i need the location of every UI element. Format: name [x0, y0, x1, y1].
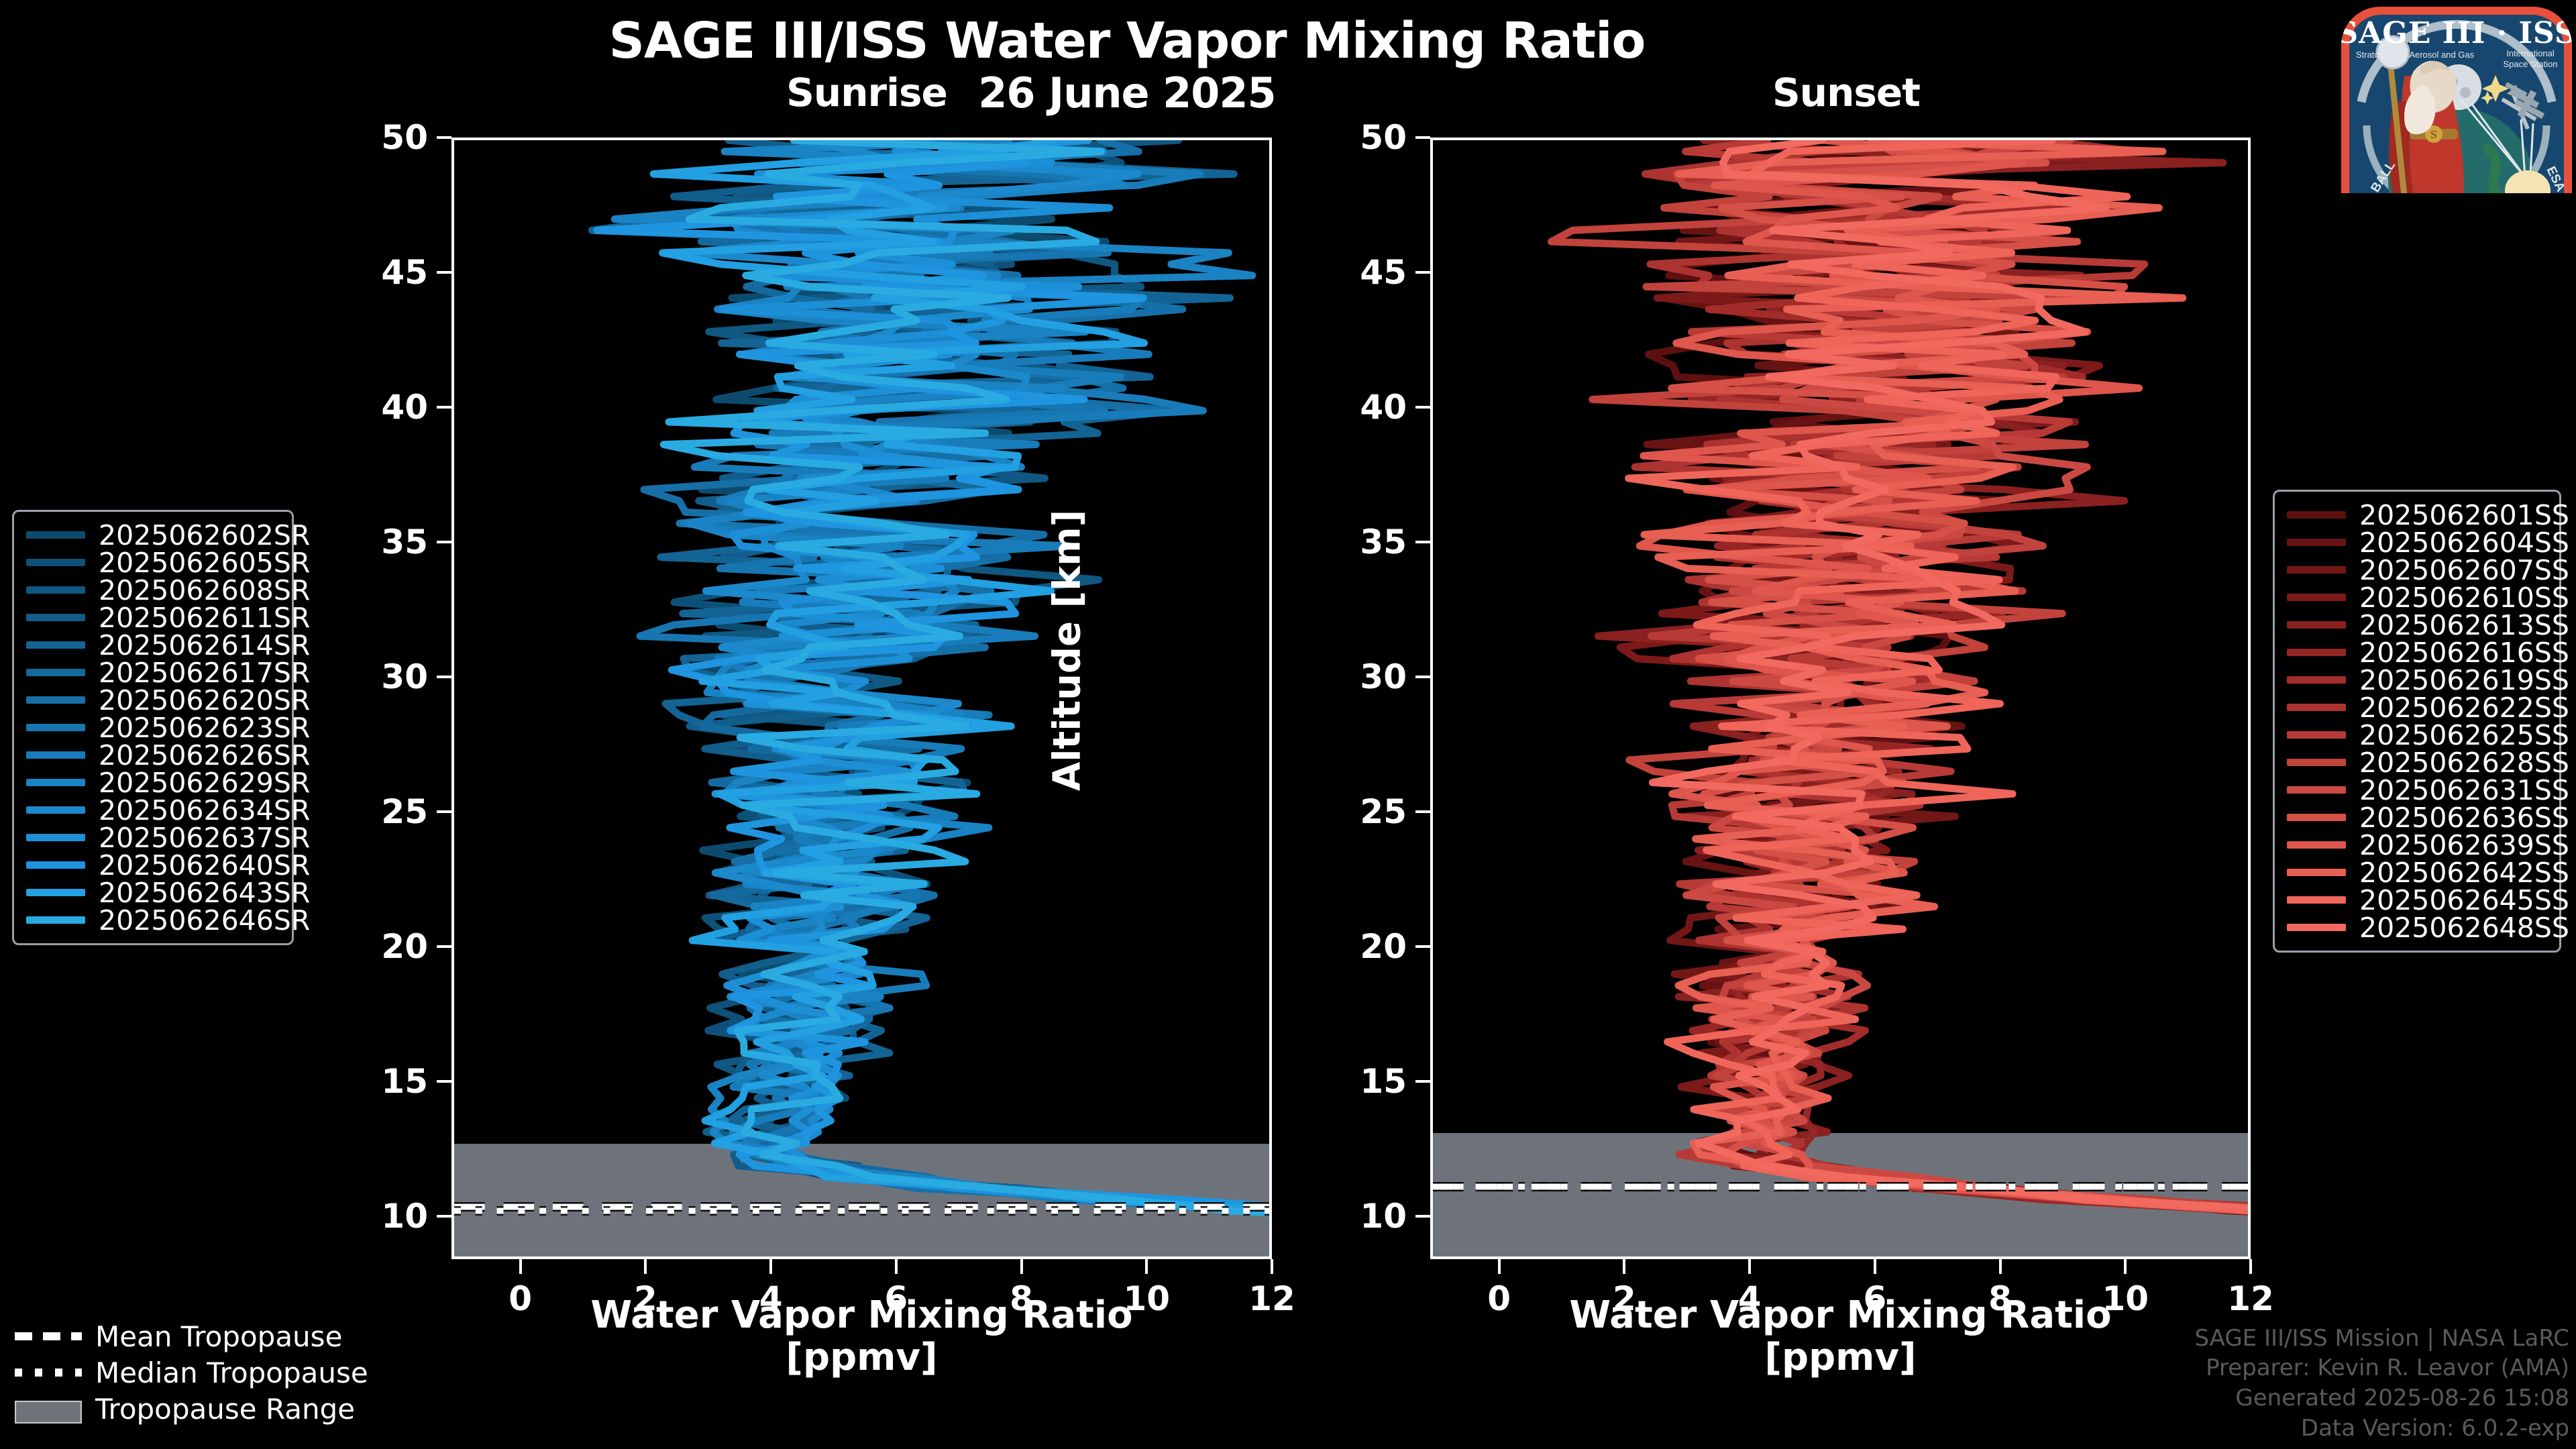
svg-text:International: International	[2506, 48, 2555, 58]
legend-color-swatch	[2287, 676, 2346, 684]
legend-sunset[interactable]: 2025062601SS2025062604SS2025062607SS2025…	[2273, 490, 2561, 953]
credits-line: Preparer: Kevin R. Leavor (AMA)	[2194, 1353, 2569, 1383]
y-tick-mark	[1415, 136, 1430, 139]
plot-panel-sunset	[1430, 138, 2251, 1259]
y-tick-mark	[437, 945, 451, 948]
tropopause-legend-label: Tropopause Range	[95, 1393, 355, 1426]
plot-panel-sunrise	[451, 138, 1272, 1259]
y-tick-label: 15	[317, 1062, 428, 1101]
legend-item[interactable]: 2025062617SR	[26, 659, 280, 686]
legend-color-swatch	[2287, 649, 2346, 656]
legend-item[interactable]: 2025062631SS	[2287, 776, 2547, 804]
y-tick-label: 40	[317, 388, 428, 427]
x-tick-mark	[1874, 1259, 1876, 1274]
legend-item[interactable]: 2025062608SR	[26, 576, 280, 604]
legend-item[interactable]: 2025062625SS	[2287, 721, 2547, 749]
tropopause-range-key-icon	[15, 1401, 82, 1417]
plot-area-sunrise	[454, 140, 1269, 1256]
legend-color-swatch	[2287, 814, 2346, 821]
y-tick-label: 25	[317, 792, 428, 831]
legend-item[interactable]: 2025062642SS	[2287, 859, 2547, 886]
svg-text:SAGE III · ISS: SAGE III · ISS	[2337, 16, 2576, 50]
sunset-panel-title: Sunset	[1430, 70, 2262, 115]
figure-canvas: SAGE III/ISS Water Vapor Mixing Ratio 26…	[0, 0, 2576, 1449]
x-tick-mark	[1271, 1259, 1273, 1274]
x-axis-title-sunrise: Water Vapor Mixing Ratio [ppmv]	[451, 1295, 1272, 1379]
tropopause-legend-label: Mean Tropopause	[95, 1320, 342, 1353]
legend-item[interactable]: 2025062634SR	[26, 796, 280, 824]
legend-item[interactable]: 2025062643SR	[26, 879, 280, 906]
tropopause-legend-item: Mean Tropopause	[15, 1318, 390, 1354]
legend-item[interactable]: 2025062648SS	[2287, 914, 2547, 941]
y-tick-label: 40	[1296, 388, 1407, 427]
legend-item-label: 2025062648SS	[2359, 912, 2569, 944]
svg-text:Space Station: Space Station	[2504, 59, 2558, 69]
legend-color-swatch	[26, 861, 85, 869]
legend-color-swatch	[2287, 594, 2346, 601]
y-tick-label: 30	[317, 657, 428, 696]
legend-sunrise[interactable]: 2025062602SR2025062605SR2025062608SR2025…	[12, 510, 294, 945]
legend-item[interactable]: 2025062619SS	[2287, 666, 2547, 694]
legend-color-swatch	[26, 806, 85, 814]
sunrise-panel-title: Sunrise	[451, 70, 1283, 115]
x-tick-mark	[2249, 1259, 2252, 1274]
x-tick-mark	[2124, 1259, 2127, 1274]
svg-text:S: S	[2430, 129, 2437, 141]
plot-area-sunset	[1433, 140, 2248, 1256]
legend-item[interactable]: 2025062626SR	[26, 741, 280, 769]
legend-item[interactable]: 2025062628SS	[2287, 749, 2547, 776]
legend-item[interactable]: 2025062640SR	[26, 851, 280, 879]
y-tick-mark	[1415, 945, 1430, 948]
legend-item-label: 2025062646SR	[99, 904, 310, 936]
legend-color-swatch	[26, 751, 85, 759]
y-tick-mark	[437, 271, 451, 274]
credits-line: Data Version: 6.0.2-exp	[2194, 1413, 2569, 1444]
tropopause-legend: Mean TropopauseMedian TropopauseTropopau…	[15, 1318, 390, 1427]
legend-key-glyph	[15, 1368, 82, 1377]
y-axis-title-sunset: Altitude [km]	[1047, 415, 1089, 885]
legend-item[interactable]: 2025062637SR	[26, 824, 280, 851]
y-tick-mark	[437, 810, 451, 813]
y-tick-label: 20	[317, 927, 428, 966]
legend-item[interactable]: 2025062614SR	[26, 631, 280, 659]
tropopause-legend-label: Median Tropopause	[95, 1356, 368, 1389]
legend-color-swatch	[2287, 924, 2346, 931]
median-tropopause-key-icon	[15, 1364, 82, 1381]
x-tick-mark	[895, 1259, 898, 1274]
tropopause-legend-item: Tropopause Range	[15, 1391, 390, 1427]
legend-color-swatch	[2287, 621, 2346, 629]
x-tick-mark	[1999, 1259, 2002, 1274]
y-tick-label: 20	[1296, 927, 1407, 966]
x-tick-mark	[769, 1259, 772, 1274]
x-tick-mark	[1623, 1259, 1625, 1274]
y-tick-label: 15	[1296, 1062, 1407, 1101]
credits-line: SAGE III/ISS Mission | NASA LaRC	[2194, 1324, 2569, 1354]
legend-color-swatch	[26, 834, 85, 841]
legend-item[interactable]: 2025062605SR	[26, 549, 280, 576]
x-tick-mark	[1748, 1259, 1751, 1274]
credits-block: SAGE III/ISS Mission | NASA LaRCPreparer…	[2194, 1324, 2569, 1444]
x-axis-title-line2: [ppmv]	[451, 1337, 1272, 1379]
legend-item[interactable]: 2025062646SR	[26, 906, 280, 934]
y-tick-mark	[437, 676, 451, 678]
y-tick-mark	[437, 1080, 451, 1083]
x-tick-mark	[644, 1259, 647, 1274]
y-tick-label: 45	[317, 253, 428, 292]
legend-color-swatch	[26, 669, 85, 676]
legend-color-swatch	[2287, 786, 2346, 794]
legend-item[interactable]: 2025062623SR	[26, 714, 280, 741]
x-tick-mark	[1145, 1259, 1148, 1274]
x-axis-title-line1: Water Vapor Mixing Ratio	[451, 1295, 1272, 1337]
legend-item[interactable]: 2025062622SS	[2287, 694, 2547, 721]
x-tick-mark	[1020, 1259, 1023, 1274]
y-tick-mark	[437, 541, 451, 543]
y-tick-mark	[437, 1215, 451, 1218]
y-tick-label: 50	[1296, 118, 1407, 157]
legend-color-swatch	[26, 614, 85, 621]
x-tick-mark	[1498, 1259, 1501, 1274]
legend-item[interactable]: 2025062611SR	[26, 604, 280, 631]
legend-item[interactable]: 2025062601SS	[2287, 501, 2547, 529]
legend-color-swatch	[2287, 511, 2346, 519]
y-tick-label: 25	[1296, 792, 1407, 831]
y-tick-label: 35	[1296, 523, 1407, 561]
y-tick-label: 45	[1296, 253, 1407, 292]
x-axis-title-line2: [ppmv]	[1430, 1337, 2251, 1379]
x-axis-title-line1: Water Vapor Mixing Ratio	[1430, 1295, 2251, 1337]
legend-item[interactable]: 2025062607SS	[2287, 556, 2547, 584]
legend-key-glyph	[15, 1401, 82, 1424]
y-tick-mark	[437, 136, 451, 139]
tropopause-legend-item: Median Tropopause	[15, 1354, 390, 1391]
sage-iii-iss-logo-icon: S SAGE III · ISS Stratospheric Aerosol a…	[2329, 1, 2576, 193]
legend-item[interactable]: 2025062639SS	[2287, 831, 2547, 859]
y-tick-label: 10	[317, 1197, 428, 1236]
legend-item[interactable]: 2025062602SR	[26, 521, 280, 549]
y-tick-label: 50	[317, 118, 428, 157]
legend-item[interactable]: 2025062645SS	[2287, 886, 2547, 914]
legend-color-swatch	[2287, 869, 2346, 876]
legend-color-swatch	[2287, 539, 2346, 546]
y-tick-mark	[1415, 676, 1430, 678]
legend-color-swatch	[26, 641, 85, 649]
legend-color-swatch	[26, 916, 85, 924]
legend-key-glyph	[15, 1332, 82, 1340]
legend-color-swatch	[2287, 896, 2346, 904]
legend-color-swatch	[2287, 566, 2346, 574]
y-tick-label: 30	[1296, 657, 1407, 696]
legend-color-swatch	[2287, 704, 2346, 711]
legend-color-swatch	[26, 696, 85, 704]
x-axis-title-sunset: Water Vapor Mixing Ratio [ppmv]	[1430, 1295, 2251, 1379]
legend-color-swatch	[26, 559, 85, 566]
legend-item[interactable]: 2025062616SS	[2287, 639, 2547, 666]
legend-item[interactable]: 2025062604SS	[2287, 529, 2547, 556]
y-tick-label: 35	[317, 523, 428, 561]
legend-color-swatch	[2287, 759, 2346, 766]
legend-color-swatch	[26, 779, 85, 786]
legend-color-swatch	[26, 586, 85, 594]
legend-color-swatch	[26, 724, 85, 731]
page-title: SAGE III/ISS Water Vapor Mixing Ratio	[0, 12, 2254, 70]
y-tick-mark	[1415, 1080, 1430, 1083]
svg-text:Stratospheric Aerosol and Gas: Stratospheric Aerosol and Gas	[2356, 50, 2475, 60]
legend-item[interactable]: 2025062636SS	[2287, 804, 2547, 831]
legend-item[interactable]: 2025062613SS	[2287, 611, 2547, 639]
y-tick-mark	[1415, 271, 1430, 274]
y-tick-label: 10	[1296, 1197, 1407, 1236]
y-tick-mark	[437, 406, 451, 409]
legend-color-swatch	[26, 889, 85, 896]
y-tick-mark	[1415, 810, 1430, 813]
legend-color-swatch	[2287, 731, 2346, 739]
legend-item[interactable]: 2025062620SR	[26, 686, 280, 714]
legend-color-swatch	[2287, 841, 2346, 849]
legend-item[interactable]: 2025062610SS	[2287, 584, 2547, 611]
y-tick-mark	[1415, 541, 1430, 543]
y-tick-mark	[1415, 406, 1430, 409]
mean-tropopause-key-icon	[15, 1328, 82, 1344]
credits-line: Generated 2025-08-26 15:08	[2194, 1383, 2569, 1413]
y-tick-mark	[1415, 1215, 1430, 1218]
legend-item[interactable]: 2025062629SR	[26, 769, 280, 796]
x-tick-mark	[519, 1259, 522, 1274]
legend-color-swatch	[26, 531, 85, 539]
